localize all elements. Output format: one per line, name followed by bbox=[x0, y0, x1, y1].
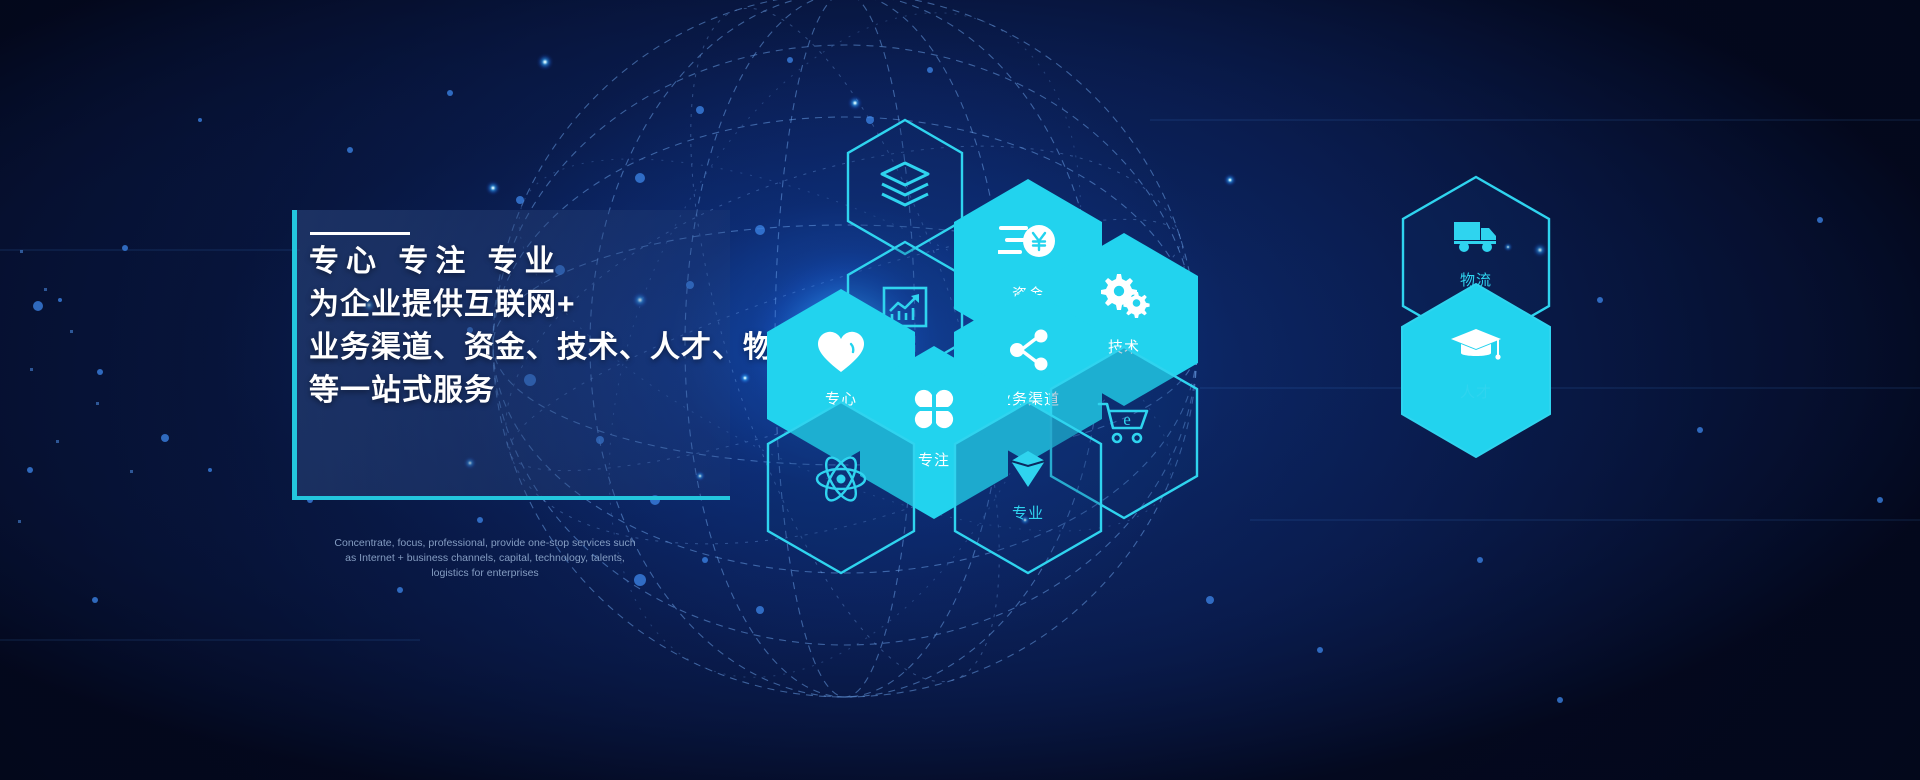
hex-label: 人才 bbox=[1400, 381, 1552, 402]
hero-banner: 专心 专注 专业 为企业提供互联网+ 业务渠道、资金、技术、人才、物流 等一站式… bbox=[0, 0, 1920, 780]
hexagon-cluster: 资金 技术 bbox=[0, 0, 1920, 780]
diamond-icon bbox=[952, 448, 1104, 490]
hex-zhuanye[interactable]: 专业 bbox=[952, 400, 1104, 575]
hexagon-outline-shape bbox=[1400, 283, 1552, 458]
truck-icon bbox=[1400, 220, 1552, 254]
hex-rencai[interactable]: 人才 bbox=[1400, 283, 1552, 458]
hex-layers[interactable] bbox=[845, 118, 965, 256]
hex-label: 专业 bbox=[952, 502, 1104, 523]
svg-text:e: e bbox=[1123, 410, 1131, 429]
hex-atom[interactable] bbox=[765, 400, 917, 575]
graduation-cap-icon bbox=[1400, 327, 1552, 365]
atom-icon bbox=[765, 452, 917, 506]
layers-icon bbox=[845, 160, 965, 210]
